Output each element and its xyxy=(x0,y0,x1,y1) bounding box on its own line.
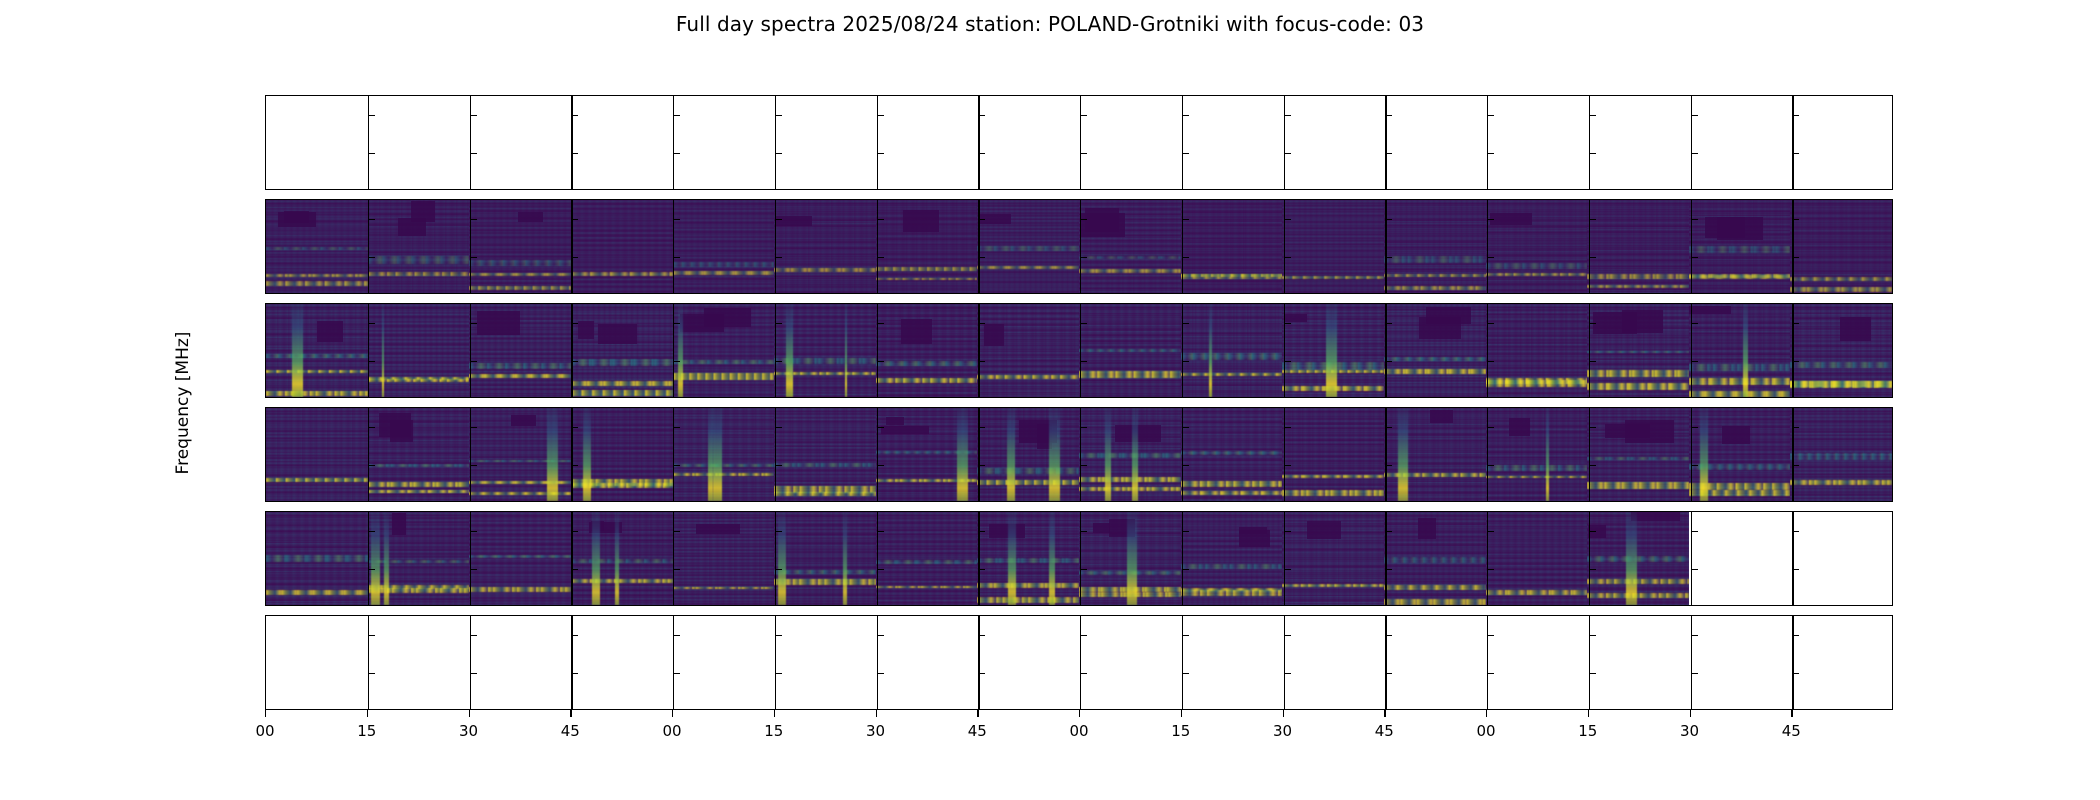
spec-bright-trace xyxy=(977,597,1079,603)
spec-bright-trace xyxy=(876,586,978,589)
spectrogram-panel[interactable] xyxy=(266,616,368,709)
spectrogram-row-00-03[interactable]: 204000-03UT xyxy=(265,95,1893,190)
x-tick-mark xyxy=(876,710,877,717)
y-tick-mark-inner xyxy=(571,531,578,532)
spec-mid-trace xyxy=(1587,351,1689,354)
spec-burst-column xyxy=(547,408,558,501)
spectrogram-panel[interactable] xyxy=(1790,96,1892,189)
spectrogram-panel[interactable] xyxy=(469,200,571,293)
spectrogram-panel[interactable] xyxy=(1282,616,1384,709)
spectrogram-panel[interactable] xyxy=(469,96,571,189)
spectrogram-row-12-15[interactable]: 204012-15UT xyxy=(265,407,1893,502)
spectrogram-panel[interactable] xyxy=(1079,96,1181,189)
spec-bright-trace xyxy=(1587,383,1689,390)
y-tick-mark-inner xyxy=(1385,361,1392,362)
spec-striation-layer xyxy=(1384,200,1486,293)
panel-separator xyxy=(775,200,776,293)
spectrogram-panel[interactable] xyxy=(266,512,368,605)
spectrogram-panel[interactable] xyxy=(977,96,1079,189)
spectrogram-panel[interactable] xyxy=(571,304,673,397)
spectrogram-panel[interactable] xyxy=(1486,616,1588,709)
spectrogram-panel[interactable] xyxy=(1486,512,1588,605)
y-tick-mark-inner xyxy=(368,361,375,362)
spec-bright-trace xyxy=(571,272,673,277)
y-tick-mark-inner xyxy=(1284,323,1291,324)
spec-mid-trace xyxy=(266,247,368,250)
spec-bright-trace xyxy=(977,583,1079,588)
spectrogram-panel[interactable] xyxy=(876,96,978,189)
panel-separator xyxy=(673,200,674,293)
spectrogram-panel[interactable] xyxy=(673,200,775,293)
spectrogram-row-16-19[interactable]: 204016-19UT xyxy=(265,511,1893,606)
panel-separator xyxy=(877,96,878,189)
spec-bright-trace xyxy=(1181,373,1283,376)
spec-bright-trace xyxy=(1587,579,1689,584)
spectrogram-panel[interactable] xyxy=(571,200,673,293)
y-tick-mark-inner xyxy=(1487,673,1494,674)
spec-bright-trace xyxy=(1079,487,1181,492)
panel-separator xyxy=(673,408,674,501)
spec-dark-patch xyxy=(1705,217,1745,238)
spectrogram-panel[interactable] xyxy=(1689,408,1791,501)
spec-bright-trace xyxy=(1384,286,1486,291)
spec-burst-column xyxy=(708,408,712,501)
y-tick-mark-inner xyxy=(673,115,680,116)
spectrogram-panel[interactable] xyxy=(1181,304,1283,397)
y-tick-mark-inner xyxy=(1589,323,1596,324)
spec-bright-trace xyxy=(1587,274,1689,279)
y-tick-mark-inner xyxy=(978,635,985,636)
spec-striation-layer-2 xyxy=(774,512,876,605)
spectrogram-panel[interactable] xyxy=(1079,512,1181,605)
spectrogram-panel[interactable] xyxy=(673,408,775,501)
spec-burst-column xyxy=(1326,304,1337,397)
panel-separator xyxy=(1182,200,1183,293)
spectrogram-panel[interactable] xyxy=(1282,96,1384,189)
spec-bright-trace xyxy=(266,391,368,396)
spec-dark-patch xyxy=(278,212,317,227)
panel-separator xyxy=(775,304,776,397)
panel-separator xyxy=(368,200,369,293)
spec-striation-layer-2 xyxy=(266,408,368,501)
spectrogram-panel[interactable] xyxy=(876,408,978,501)
spectrogram-panel[interactable] xyxy=(469,616,571,709)
y-tick-mark-inner xyxy=(1792,531,1799,532)
spec-dark-patch xyxy=(1593,312,1637,334)
spec-bright-trace xyxy=(774,268,876,272)
spectrogram-panel[interactable] xyxy=(1689,616,1791,709)
spec-bright-trace xyxy=(1181,491,1283,495)
y-tick-mark-inner xyxy=(673,427,680,428)
y-tick-mark-inner xyxy=(1284,257,1291,258)
spec-dark-patch xyxy=(598,324,638,344)
spectrogram-panel[interactable] xyxy=(1384,96,1486,189)
spectrogram-panel[interactable] xyxy=(977,408,1079,501)
y-tick-mark-inner xyxy=(1589,257,1596,258)
panel-separator xyxy=(1792,200,1793,293)
spec-dark-patch xyxy=(1284,314,1307,323)
spec-dark-patch xyxy=(511,415,536,425)
spec-dark-patch xyxy=(680,314,724,332)
spectrogram-panel[interactable] xyxy=(1384,616,1486,709)
spec-burst-column xyxy=(1626,512,1637,605)
spectrogram-panel[interactable] xyxy=(571,96,673,189)
panel-separator xyxy=(1385,408,1386,501)
spec-burst-column xyxy=(1127,512,1137,605)
spectrogram-panel[interactable] xyxy=(1079,304,1181,397)
y-tick-mark-inner xyxy=(1385,531,1392,532)
spec-dark-patch xyxy=(1419,317,1461,339)
axes-stack: 204000-03UT204004-07UT204008-11UT204012-… xyxy=(265,95,1893,710)
y-tick-mark-inner xyxy=(1487,219,1494,220)
spec-burst-column xyxy=(1049,512,1056,605)
spectrogram-panel[interactable] xyxy=(774,512,876,605)
spectrogram-panel[interactable] xyxy=(774,304,876,397)
panel-separator xyxy=(978,408,979,501)
spectrogram-panel[interactable] xyxy=(774,408,876,501)
spectrogram-panel[interactable] xyxy=(1486,304,1588,397)
panel-separator xyxy=(978,616,979,709)
spectrogram-panel[interactable] xyxy=(1790,616,1892,709)
spec-bright-trace xyxy=(876,378,978,382)
x-tick-mark xyxy=(265,710,266,717)
y-tick-mark-inner xyxy=(978,115,985,116)
panel-separator xyxy=(978,200,979,293)
y-tick-mark-inner xyxy=(775,635,782,636)
spec-time-variation-layer xyxy=(1181,200,1283,293)
panel-separator xyxy=(1487,616,1488,709)
spectrogram-panel[interactable] xyxy=(1486,408,1588,501)
spectrogram-panel[interactable] xyxy=(571,512,673,605)
spectrogram-panel[interactable] xyxy=(1587,304,1689,397)
spectrogram-panel[interactable] xyxy=(977,616,1079,709)
y-tick-mark-inner xyxy=(978,153,985,154)
y-tick-mark-inner xyxy=(470,115,477,116)
y-tick-mark-inner xyxy=(1589,219,1596,220)
y-tick-mark-inner xyxy=(470,465,477,466)
y-tick-mark-inner xyxy=(470,323,477,324)
panel-separator xyxy=(673,96,674,189)
spectrogram-panel[interactable] xyxy=(1790,200,1892,293)
y-tick-mark-inner xyxy=(775,361,782,362)
y-tick-mark-inner xyxy=(775,219,782,220)
spec-bright-trace xyxy=(266,370,368,373)
y-tick-mark-inner xyxy=(368,673,375,674)
spectrogram-panel[interactable] xyxy=(368,616,470,709)
y-tick-mark-inner xyxy=(1487,465,1494,466)
spec-burst-column xyxy=(713,408,722,501)
panel-separator xyxy=(978,304,979,397)
spec-burst-column xyxy=(1105,408,1112,501)
spec-dark-patch xyxy=(411,201,435,221)
spectrogram-panel[interactable] xyxy=(774,96,876,189)
spec-mid-trace xyxy=(1079,256,1181,259)
spectrogram-panel[interactable] xyxy=(1181,408,1283,501)
x-tick-mark xyxy=(1079,710,1080,717)
x-tick-label: 15 xyxy=(357,722,376,740)
spectrogram-panel[interactable] xyxy=(266,200,368,293)
y-tick-mark-inner xyxy=(1487,531,1494,532)
y-tick-mark-inner xyxy=(1792,115,1799,116)
spectrogram-panel[interactable] xyxy=(368,408,470,501)
y-tick-mark-inner xyxy=(1589,465,1596,466)
spectrogram-panel[interactable] xyxy=(1384,200,1486,293)
spectrogram-panel[interactable] xyxy=(774,616,876,709)
spectrogram-panel[interactable] xyxy=(1689,200,1791,293)
panel-separator xyxy=(877,616,878,709)
spec-dark-patch xyxy=(989,524,1025,537)
panel-separator xyxy=(1080,304,1081,397)
spectrogram-panel[interactable] xyxy=(774,200,876,293)
spec-burst-column xyxy=(583,408,591,501)
spec-mid-trace xyxy=(1181,564,1283,569)
spec-striation-layer-2 xyxy=(1486,408,1588,501)
spectrogram-panel[interactable] xyxy=(1079,616,1181,709)
panel-separator xyxy=(1284,512,1285,605)
spec-bright-trace xyxy=(774,579,876,585)
spectrogram-panel[interactable] xyxy=(673,304,775,397)
y-tick-mark-inner xyxy=(1792,673,1799,674)
panel-separator xyxy=(877,304,878,397)
spec-dark-patch xyxy=(518,212,543,223)
y-tick-mark-inner xyxy=(1080,115,1087,116)
spectrogram-panel[interactable] xyxy=(1282,304,1384,397)
spectrogram-row-20-23[interactable]: 204020-23UT xyxy=(265,615,1893,710)
spectrogram-panel[interactable] xyxy=(469,512,571,605)
y-tick-mark-inner xyxy=(1284,427,1291,428)
y-tick-mark-inner xyxy=(1691,219,1698,220)
spectrogram-panel[interactable] xyxy=(1384,408,1486,501)
spec-striation-layer xyxy=(876,304,978,397)
y-tick-mark-inner xyxy=(470,219,477,220)
spectrogram-panel[interactable] xyxy=(673,96,775,189)
spectrogram-panel[interactable] xyxy=(571,408,673,501)
panel-separator xyxy=(1487,304,1488,397)
spec-mid-trace xyxy=(977,246,1079,251)
spectrogram-panel[interactable] xyxy=(266,96,368,189)
spectrogram-panel[interactable] xyxy=(1181,616,1283,709)
panel-separator xyxy=(978,96,979,189)
spec-bright-trace xyxy=(469,286,571,290)
spectrogram-panel[interactable] xyxy=(368,512,470,605)
y-tick-mark-inner xyxy=(1080,465,1087,466)
spectrogram-panel[interactable] xyxy=(876,200,978,293)
y-tick-mark-inner xyxy=(470,361,477,362)
x-tick-mark xyxy=(570,710,571,717)
panel-separator xyxy=(1080,96,1081,189)
spec-mid-trace xyxy=(571,359,673,366)
spectrogram-panel[interactable] xyxy=(1587,200,1689,293)
spectrogram-panel[interactable] xyxy=(368,200,470,293)
y-tick-mark-inner xyxy=(877,153,884,154)
spectrogram-panel[interactable] xyxy=(977,200,1079,293)
spec-striation-layer xyxy=(571,200,673,293)
spectrogram-panel[interactable] xyxy=(571,616,673,709)
spectrogram-panel[interactable] xyxy=(1079,200,1181,293)
panel-separator xyxy=(1691,96,1692,189)
spec-mid-trace xyxy=(1181,353,1283,360)
panel-separator xyxy=(1080,616,1081,709)
spec-mid-trace xyxy=(1587,457,1689,460)
y-tick-mark-inner xyxy=(368,153,375,154)
spectrogram-panel[interactable] xyxy=(1790,304,1892,397)
spectrogram-panel[interactable] xyxy=(1079,408,1181,501)
spectrogram-panel[interactable] xyxy=(1689,304,1791,397)
y-tick-mark-inner xyxy=(1487,427,1494,428)
spectrogram-panel[interactable] xyxy=(1486,96,1588,189)
y-tick-mark-inner xyxy=(1487,153,1494,154)
spec-bright-trace xyxy=(1282,475,1384,478)
spec-mid-trace xyxy=(977,468,1079,474)
y-tick-mark-inner xyxy=(978,219,985,220)
spectrogram-panel[interactable] xyxy=(469,304,571,397)
y-tick-mark-inner xyxy=(571,153,578,154)
spectrogram-panel[interactable] xyxy=(876,304,978,397)
spectrogram-panel[interactable] xyxy=(1790,512,1892,605)
y-tick-mark-inner xyxy=(1080,635,1087,636)
y-tick-mark-inner xyxy=(571,257,578,258)
panel-separator xyxy=(1080,408,1081,501)
spectrogram-panel[interactable] xyxy=(876,512,978,605)
spectrogram-panel[interactable] xyxy=(469,408,571,501)
y-tick-mark-inner xyxy=(775,673,782,674)
y-tick-mark-inner xyxy=(1284,115,1291,116)
panel-separator xyxy=(1284,96,1285,189)
spec-bright-trace xyxy=(1587,370,1689,377)
spec-mid-trace xyxy=(469,555,571,558)
spectrogram-row-08-11[interactable]: 204008-11UT xyxy=(265,303,1893,398)
spectrogram-panel[interactable] xyxy=(1384,512,1486,605)
y-tick-mark-inner xyxy=(368,219,375,220)
panel-group xyxy=(266,616,1892,709)
y-tick-mark-inner xyxy=(1385,465,1392,466)
spectrogram-panel[interactable] xyxy=(1486,200,1588,293)
spectrogram-panel[interactable] xyxy=(1587,96,1689,189)
x-axis: 00153045001530450015304500153045 xyxy=(265,710,1893,754)
spec-mid-trace xyxy=(1486,465,1588,471)
spec-bright-trace xyxy=(469,587,571,592)
x-tick-label: 30 xyxy=(866,722,885,740)
spec-dark-patch xyxy=(1093,523,1110,533)
spectrogram-panel[interactable] xyxy=(1587,408,1689,501)
spec-bright-trace xyxy=(266,478,368,481)
panel-separator xyxy=(1080,200,1081,293)
spec-mid-trace xyxy=(266,555,368,562)
panel-separator xyxy=(470,408,471,501)
y-tick-mark-inner xyxy=(775,427,782,428)
spec-mid-trace xyxy=(1790,453,1892,460)
spec-mid-trace xyxy=(1790,362,1892,368)
spectrogram-panel[interactable] xyxy=(266,408,368,501)
y-tick-mark-inner xyxy=(1589,361,1596,362)
x-tick-label: 30 xyxy=(459,722,478,740)
spectrogram-panel[interactable] xyxy=(1587,616,1689,709)
spectrogram-row-04-07[interactable]: 204004-07UT xyxy=(265,199,1893,294)
spectrogram-panel[interactable] xyxy=(1181,96,1283,189)
y-tick-mark-inner xyxy=(1589,427,1596,428)
panel-separator xyxy=(978,512,979,605)
y-tick-mark-inner xyxy=(978,257,985,258)
y-tick-mark-inner xyxy=(1792,323,1799,324)
x-tick-mark xyxy=(774,710,775,717)
y-tick-mark-inner xyxy=(1589,635,1596,636)
spectrogram-panel[interactable] xyxy=(1689,96,1791,189)
spectrogram-panel[interactable] xyxy=(673,512,775,605)
panel-separator xyxy=(1284,200,1285,293)
y-tick-mark-inner xyxy=(1792,257,1799,258)
y-tick-mark-inner xyxy=(877,635,884,636)
spec-mid-trace xyxy=(1384,256,1486,263)
panel-separator xyxy=(1487,512,1488,605)
spectrogram-panel[interactable] xyxy=(1790,408,1892,501)
spec-time-variation-layer xyxy=(1282,200,1384,293)
y-tick-mark-inner xyxy=(877,323,884,324)
panel-separator xyxy=(1691,200,1692,293)
panel-separator xyxy=(1182,616,1183,709)
x-tick-label: 45 xyxy=(968,722,987,740)
spec-bright-trace xyxy=(1282,584,1384,587)
spectrogram-panel[interactable] xyxy=(368,304,470,397)
spec-dark-patch xyxy=(1239,527,1267,535)
panel-separator xyxy=(1589,200,1590,293)
x-tick-mark xyxy=(1588,710,1589,717)
y-tick-mark-inner xyxy=(978,427,985,428)
spec-mid-trace xyxy=(469,260,571,266)
panel-separator xyxy=(1182,304,1183,397)
x-tick-mark xyxy=(1181,710,1182,717)
y-tick-mark-inner xyxy=(1792,465,1799,466)
spectrogram-panel[interactable] xyxy=(1587,512,1689,605)
panel-separator xyxy=(1691,512,1692,605)
spec-bright-trace xyxy=(1181,274,1283,277)
panel-separator xyxy=(571,96,572,189)
spectrogram-panel[interactable] xyxy=(977,304,1079,397)
spectrogram-panel[interactable] xyxy=(1181,200,1283,293)
y-tick-mark-inner xyxy=(1487,635,1494,636)
spectrogram-panel[interactable] xyxy=(876,616,978,709)
spec-mid-trace xyxy=(876,361,978,366)
spectrogram-panel[interactable] xyxy=(1282,200,1384,293)
y-tick-mark-inner xyxy=(775,569,782,570)
spectrogram-panel[interactable] xyxy=(1282,512,1384,605)
spec-burst-column xyxy=(1398,408,1408,501)
panel-separator xyxy=(1182,512,1183,605)
spectrogram-panel[interactable] xyxy=(368,96,470,189)
spectrogram-panel[interactable] xyxy=(1181,512,1283,605)
y-tick-mark-inner xyxy=(571,115,578,116)
y-tick-mark-inner xyxy=(1589,531,1596,532)
spectrogram-panel[interactable] xyxy=(673,616,775,709)
spectrogram-panel[interactable] xyxy=(1689,512,1791,605)
spec-mid-trace xyxy=(673,360,775,364)
spectrogram-panel[interactable] xyxy=(1282,408,1384,501)
spec-bright-trace xyxy=(774,492,876,496)
y-tick-mark-inner xyxy=(1589,569,1596,570)
spectrogram-panel[interactable] xyxy=(977,512,1079,605)
spec-time-variation-layer xyxy=(774,512,876,605)
spectrogram-panel[interactable] xyxy=(266,304,368,397)
spec-time-variation-layer xyxy=(571,200,673,293)
spectrogram-panel[interactable] xyxy=(1384,304,1486,397)
spec-striation-layer-2 xyxy=(673,200,775,293)
y-tick-mark-inner xyxy=(978,673,985,674)
y-tick-mark xyxy=(265,569,266,570)
spec-bright-trace xyxy=(977,266,1079,269)
x-tick-label: 00 xyxy=(1476,722,1495,740)
y-tick-mark-inner xyxy=(1589,673,1596,674)
spec-bright-trace xyxy=(1790,277,1892,281)
y-tick-mark-inner xyxy=(877,361,884,362)
